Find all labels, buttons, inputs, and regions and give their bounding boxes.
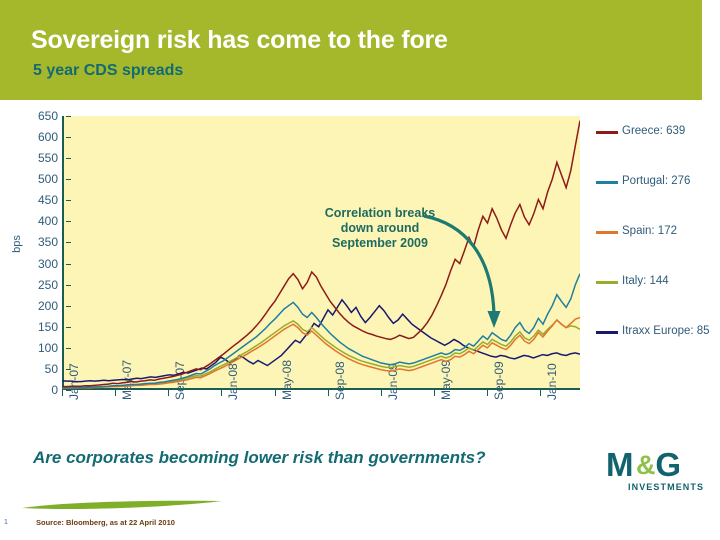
legend-color-swatch [596,281,618,284]
brush-stroke-decoration [22,500,222,512]
x-tick-mark [115,390,116,396]
legend-item[interactable]: Italy: 144 [596,274,720,308]
legend-label: Spain: 172 [622,224,720,238]
x-tick-mark [487,390,488,396]
y-tick-label: 200 [14,301,58,311]
legend-color-swatch [596,331,618,334]
legend-label: Greece: 639 [622,124,720,138]
annotation-arrow-icon [420,210,510,340]
logo-letter-g: G [655,446,680,483]
x-tick-mark [434,390,435,396]
y-tick-label: 150 [14,322,58,332]
legend-item[interactable]: Spain: 172 [596,224,720,258]
source-note: Source: Bloomberg, as at 22 April 2010 [36,518,175,527]
mg-investments-logo: M&G & INVESTMENTS [606,448,710,502]
page-subtitle: 5 year CDS spreads [33,62,183,80]
y-tick-label: 50 [14,364,58,374]
legend-label: Itraxx Europe: 85 [622,324,720,338]
y-tick-label: 100 [14,343,58,353]
x-tick-mark [221,390,222,396]
page-number: 1 [4,519,8,526]
page-title: Sovereign risk has come to the fore [31,26,448,55]
y-tick-label: 250 [14,280,58,290]
x-tick-mark [540,390,541,396]
y-tick-label: 300 [14,259,58,269]
legend-color-swatch [596,181,618,184]
y-tick-label: 0 [14,385,58,395]
legend-label: Italy: 144 [622,274,720,288]
x-tick-mark [168,390,169,396]
legend-item[interactable]: Greece: 639 [596,124,720,158]
legend-color-swatch [596,231,618,234]
legend-color-swatch [596,131,618,134]
x-tick-mark [381,390,382,396]
logo-letter-m: M [606,446,633,483]
x-tick-mark [62,390,63,396]
slide: Sovereign risk has come to the fore 5 ye… [0,0,720,540]
legend-item[interactable]: Portugal: 276 [596,174,720,208]
x-tick-mark [275,390,276,396]
y-tick-label: 350 [14,237,58,247]
chart-legend: Greece: 639Portugal: 276Spain: 172Italy:… [596,124,720,374]
x-tick-mark [328,390,329,396]
legend-label: Portugal: 276 [622,174,720,188]
logo-ampersand: & [636,452,656,479]
legend-item[interactable]: Itraxx Europe: 85 [596,324,720,358]
slide-caption: Are corporates becoming lower risk than … [33,448,486,468]
logo-tagline: INVESTMENTS [628,482,704,492]
